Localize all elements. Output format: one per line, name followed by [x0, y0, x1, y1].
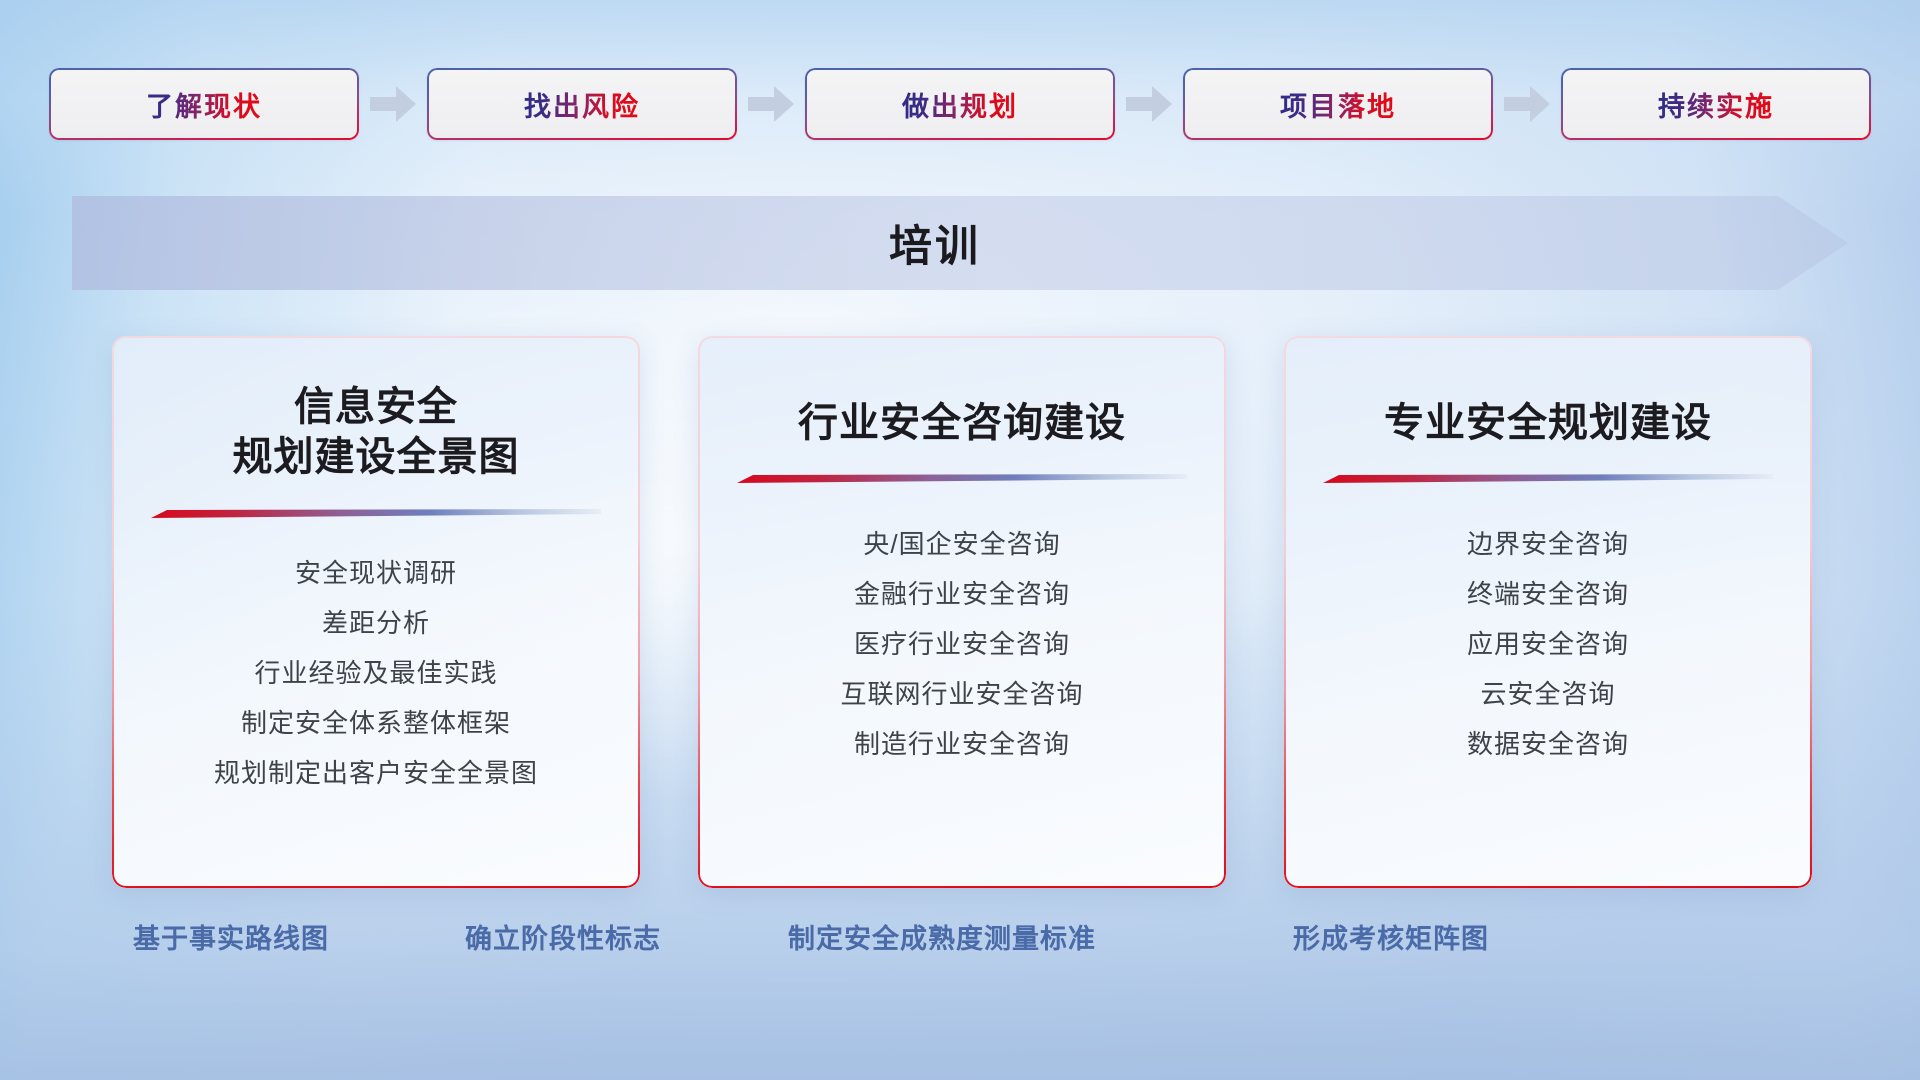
list-item: 差距分析	[322, 598, 430, 648]
flow-step-5[interactable]: 持续实施	[1561, 68, 1871, 140]
process-flow-row: 了解现状 找出风险 做出规划 项目落地	[0, 68, 1920, 140]
bottom-label-maturity-standard: 制定安全成熟度测量标准	[788, 914, 1096, 964]
bottom-label-row: 基于事实路线图 确立阶段性标志 制定安全成熟度测量标准 形成考核矩阵图	[0, 914, 1920, 964]
card-divider	[151, 509, 601, 518]
list-item: 医疗行业安全咨询	[854, 619, 1070, 669]
card-information-security[interactable]: 信息安全 规划建设全景图	[112, 336, 640, 888]
bottom-label-roadmap: 基于事实路线图	[133, 914, 329, 964]
list-item: 终端安全咨询	[1467, 569, 1629, 619]
flow-step-label: 找出风险	[524, 85, 640, 124]
card-divider	[737, 474, 1187, 483]
flow-step-3[interactable]: 做出规划	[805, 68, 1115, 140]
flow-step-label: 了解现状	[146, 85, 262, 124]
list-item: 互联网行业安全咨询	[840, 669, 1083, 719]
card-title: 专业安全规划建设	[1384, 398, 1712, 448]
card-title: 行业安全咨询建设	[798, 398, 1126, 448]
card-industry-security-consulting[interactable]: 行业安全咨询建设	[698, 336, 1226, 888]
card-professional-security-planning[interactable]: 专业安全规划建设	[1284, 336, 1812, 888]
flow-arrow-1	[359, 68, 427, 140]
training-banner-title: 培训	[72, 196, 1848, 290]
flow-arrow-4	[1493, 68, 1561, 140]
card-item-list: 边界安全咨询 终端安全咨询 应用安全咨询 云安全咨询 数据安全咨询	[1467, 519, 1629, 769]
flow-step-label: 持续实施	[1658, 85, 1774, 124]
flow-arrow-3	[1115, 68, 1183, 140]
card-title: 信息安全 规划建设全景图	[233, 382, 520, 483]
training-banner: 培训	[72, 196, 1848, 290]
list-item: 应用安全咨询	[1467, 619, 1629, 669]
list-item: 数据安全咨询	[1467, 719, 1629, 769]
list-item: 云安全咨询	[1480, 669, 1615, 719]
card-item-list: 央/国企安全咨询 金融行业安全咨询 医疗行业安全咨询 互联网行业安全咨询 制造行…	[840, 519, 1083, 769]
list-item: 央/国企安全咨询	[863, 519, 1060, 569]
card-item-list: 安全现状调研 差距分析 行业经验及最佳实践 制定安全体系整体框架 规划制定出客户…	[214, 548, 538, 798]
flow-arrow-2	[737, 68, 805, 140]
list-item: 制定安全体系整体框架	[241, 698, 511, 748]
flow-step-label: 做出规划	[902, 85, 1018, 124]
list-item: 行业经验及最佳实践	[254, 648, 497, 698]
list-item: 边界安全咨询	[1467, 519, 1629, 569]
card-row: 信息安全 规划建设全景图	[112, 336, 1812, 888]
flow-step-4[interactable]: 项目落地	[1183, 68, 1493, 140]
flow-step-1[interactable]: 了解现状	[49, 68, 359, 140]
flow-step-label: 项目落地	[1280, 85, 1396, 124]
list-item: 规划制定出客户安全全景图	[214, 748, 538, 798]
list-item: 金融行业安全咨询	[854, 569, 1070, 619]
slide-stage: 了解现状 找出风险 做出规划 项目落地	[0, 0, 1920, 1080]
list-item: 安全现状调研	[295, 548, 457, 598]
card-divider	[1323, 474, 1773, 483]
flow-step-2[interactable]: 找出风险	[427, 68, 737, 140]
bottom-label-assessment-matrix: 形成考核矩阵图	[1293, 914, 1489, 964]
list-item: 制造行业安全咨询	[854, 719, 1070, 769]
bottom-label-milestones: 确立阶段性标志	[465, 914, 661, 964]
